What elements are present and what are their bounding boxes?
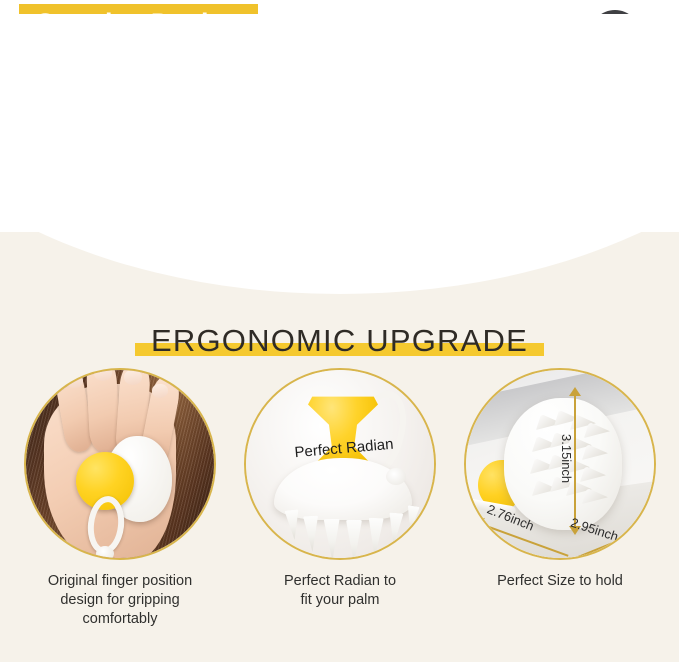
caption-line: design for gripping — [8, 591, 232, 610]
massager-loop-bead — [96, 546, 114, 558]
caption-line: comfortably — [8, 610, 232, 629]
feature-image-circle — [24, 368, 216, 560]
spike — [367, 518, 383, 558]
feature-perfect-size: 3.15inch 2.76inch 2.95inch Perfect Size … — [448, 368, 672, 591]
feature-finger-position: Original finger position design for grip… — [8, 368, 232, 629]
feature-caption: Perfect Size to hold — [448, 572, 672, 591]
caption-line: Perfect Radian to — [228, 572, 452, 591]
section-heading: ERGONOMIC UPGRADE — [0, 323, 679, 359]
feature-list: Original finger position design for grip… — [0, 368, 679, 598]
silicone-spikes — [246, 370, 434, 558]
spike — [404, 505, 420, 532]
fingernail — [124, 370, 142, 385]
caption-line: fit your palm — [228, 591, 452, 610]
spike — [284, 509, 301, 540]
caption-line: Perfect Size to hold — [448, 572, 672, 591]
dimension-arrow-up — [569, 387, 581, 396]
feature-perfect-radian: Perfect Radian Perfect Radian to fit you… — [228, 368, 452, 610]
feature-caption: Perfect Radian to fit your palm — [228, 572, 452, 610]
dimension-label-height: 3.15inch — [559, 434, 574, 483]
fingernail — [66, 374, 83, 388]
product-infographic: Creative Design — [0, 0, 679, 662]
feature-image-circle: Perfect Radian — [244, 368, 436, 560]
feature-image-circle: 3.15inch 2.76inch 2.95inch — [464, 368, 656, 560]
spike — [303, 516, 320, 553]
curved-divider — [0, 14, 679, 294]
spike — [387, 512, 404, 546]
dimension-line-vertical — [574, 394, 576, 528]
spike — [346, 520, 362, 558]
fingernail — [152, 384, 168, 398]
caption-line: Original finger position — [8, 572, 232, 591]
heading-label: ERGONOMIC UPGRADE — [151, 323, 528, 358]
feature-caption: Original finger position design for grip… — [8, 572, 232, 629]
spike — [324, 519, 341, 558]
